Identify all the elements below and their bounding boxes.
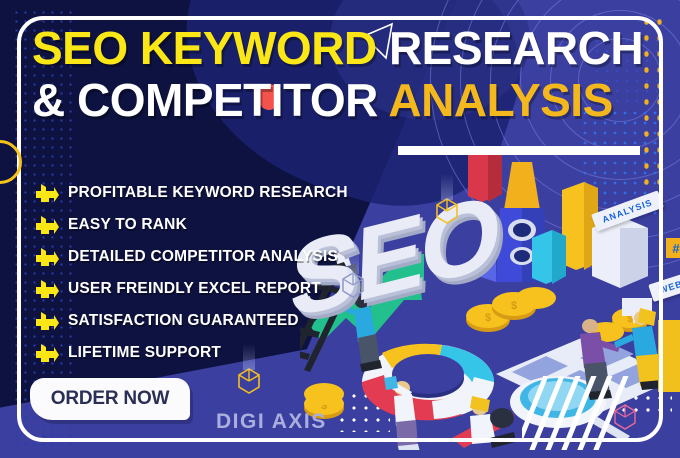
hashtag-icon: # xyxy=(666,238,680,258)
pointing-hand-icon xyxy=(34,182,60,204)
list-item-label: SATISFACTION GUARANTEED xyxy=(68,312,299,330)
headline-line-2: & COMPETITOR ANALYSIS xyxy=(32,76,652,124)
list-item: EASY TO RANK xyxy=(34,210,394,240)
svg-text:$: $ xyxy=(485,312,491,324)
headline-analysis: ANALYSIS xyxy=(388,74,612,126)
list-item-label: LIFETIME SUPPORT xyxy=(68,344,221,362)
seo-service-banner: $ $ $ $ xyxy=(0,0,680,458)
order-now-label: ORDER NOW xyxy=(51,388,170,410)
pointing-hand-icon xyxy=(34,246,60,268)
pointing-hand-icon xyxy=(34,310,60,332)
list-item-label: EASY TO RANK xyxy=(68,216,187,234)
pointing-hand-icon xyxy=(34,214,60,236)
list-item: SATISFACTION GUARANTEED xyxy=(34,306,394,336)
pointing-hand-icon xyxy=(34,278,60,300)
headline-competitor: & COMPETITOR xyxy=(32,74,378,126)
list-item: USER FREINDLY EXCEL REPORT xyxy=(34,274,394,304)
headline-underline xyxy=(398,146,640,155)
list-item: DETAILED COMPETITOR ANALYSIS xyxy=(34,242,394,272)
headline-seo-keyword: SEO KEYWORD xyxy=(32,22,377,74)
list-item-label: PROFITABLE KEYWORD RESEARCH xyxy=(68,184,348,202)
person-sitting xyxy=(470,396,516,448)
pink-cube-icon xyxy=(614,404,636,430)
list-item: LIFETIME SUPPORT xyxy=(34,338,394,368)
cube-icon-lower xyxy=(238,368,260,394)
list-item-label: DETAILED COMPETITOR ANALYSIS xyxy=(68,248,338,266)
cube-trail xyxy=(441,174,453,200)
list-item: PROFITABLE KEYWORD RESEARCH xyxy=(34,178,394,208)
headline-research: RESEARCH xyxy=(389,22,643,74)
order-now-button[interactable]: ORDER NOW xyxy=(30,378,190,420)
cube-icon-upper xyxy=(436,198,458,224)
yellow-accent-bar xyxy=(658,320,680,392)
feature-list: PROFITABLE KEYWORD RESEARCH EASY TO RANK… xyxy=(34,178,394,370)
svg-text:$: $ xyxy=(511,300,517,312)
headline-block: SEO KEYWORD RESEARCH & COMPETITOR ANALYS… xyxy=(32,24,652,124)
brand-name: DIGI AXIS xyxy=(216,410,327,434)
headline-line-1: SEO KEYWORD RESEARCH xyxy=(32,24,652,72)
list-item-label: USER FREINDLY EXCEL REPORT xyxy=(68,280,321,298)
pointing-hand-icon xyxy=(34,342,60,364)
